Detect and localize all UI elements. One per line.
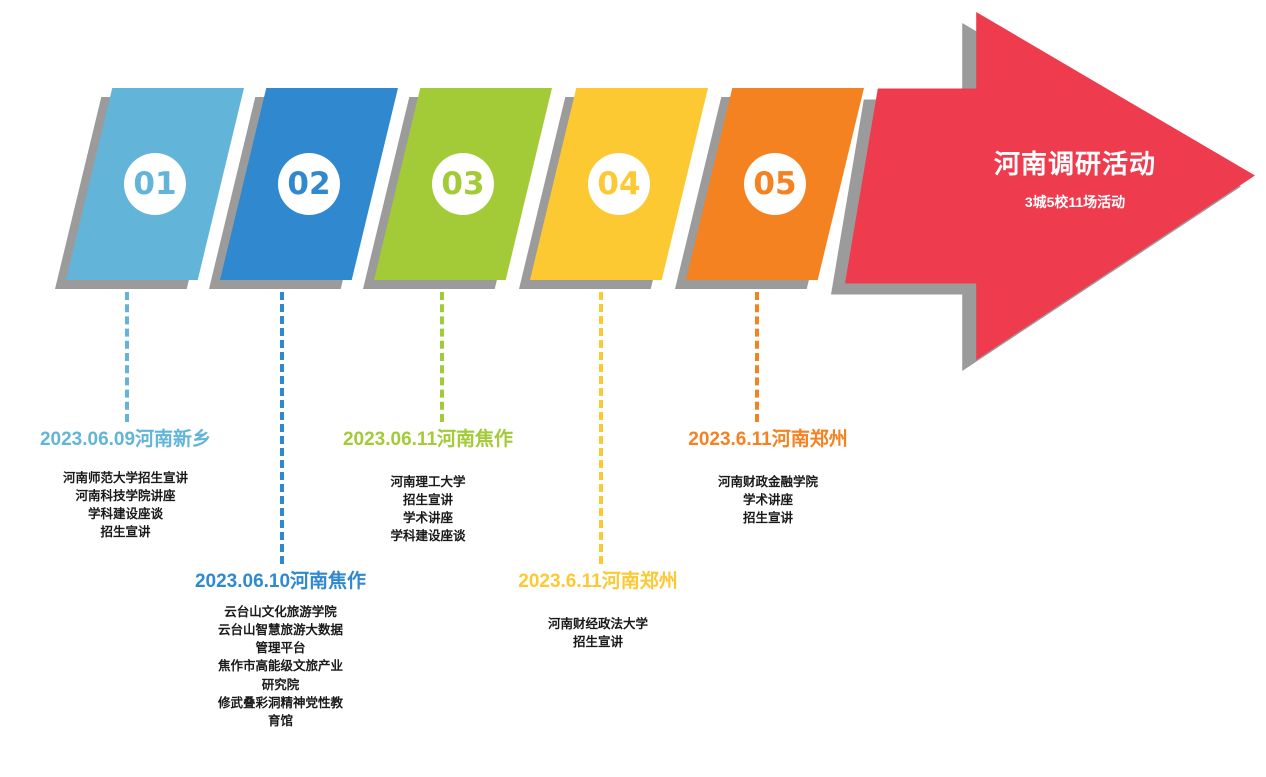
list-item: 学科建设座谈: [328, 527, 528, 545]
list-item: 河南理工大学: [328, 473, 528, 491]
list-item: 学科建设座谈: [18, 505, 233, 523]
step-label-02: 2023.06.10河南焦作 云台山文化旅游学院 云台山智慧旅游大数据 管理平台…: [177, 566, 384, 730]
timeline-card-01[interactable]: 01: [66, 88, 244, 280]
step-number-label: 04: [597, 166, 640, 202]
list-item: 学术讲座: [328, 509, 528, 527]
infographic-canvas: 01 02 03 04 05 河南调研活动 3城5校11场活动: [0, 0, 1266, 777]
timeline-card-05[interactable]: 05: [686, 88, 864, 280]
connector-line-05: [755, 292, 759, 422]
timeline-card-04[interactable]: 04: [530, 88, 708, 280]
step-number-badge-01: 01: [124, 153, 186, 215]
step-number-label: 02: [287, 166, 330, 202]
list-item: 云台山文化旅游学院: [177, 603, 384, 621]
step-date-04: 2023.6.11河南郑州: [498, 566, 698, 593]
step-date-05: 2023.6.11河南郑州: [668, 424, 868, 451]
step-number-label: 03: [441, 166, 484, 202]
step-label-05: 2023.6.11河南郑州 河南财政金融学院 学术讲座 招生宣讲: [668, 424, 868, 527]
step-number-badge-03: 03: [432, 153, 494, 215]
list-item: 修武叠彩洞精神党性教 育馆: [177, 694, 384, 730]
step-number-label: 01: [133, 166, 176, 202]
list-item: 云台山智慧旅游大数据 管理平台: [177, 621, 384, 657]
list-item: 河南科技学院讲座: [18, 487, 233, 505]
list-item: 焦作市高能级文旅产业 研究院: [177, 657, 384, 693]
list-item: 河南财经政法大学: [498, 615, 698, 633]
step-date-02: 2023.06.10河南焦作: [177, 566, 384, 593]
timeline-card-02[interactable]: 02: [220, 88, 398, 280]
step-items-03: 河南理工大学 招生宣讲 学术讲座 学科建设座谈: [328, 473, 528, 546]
step-label-01: 2023.06.09河南新乡 河南师范大学招生宣讲 河南科技学院讲座 学科建设座…: [18, 424, 233, 542]
list-item: 招生宣讲: [328, 491, 528, 509]
step-label-03: 2023.06.11河南焦作 河南理工大学 招生宣讲 学术讲座 学科建设座谈: [328, 424, 528, 546]
step-date-01: 2023.06.09河南新乡: [18, 424, 233, 451]
arrow-title: 河南调研活动: [945, 144, 1205, 181]
step-date-03: 2023.06.11河南焦作: [328, 424, 528, 451]
step-items-01: 河南师范大学招生宣讲 河南科技学院讲座 学科建设座谈 招生宣讲: [18, 469, 233, 542]
list-item: 招生宣讲: [18, 523, 233, 541]
step-items-04: 河南财经政法大学 招生宣讲: [498, 615, 698, 651]
connector-line-04: [599, 292, 603, 564]
connector-line-01: [125, 292, 129, 422]
step-label-04: 2023.6.11河南郑州 河南财经政法大学 招生宣讲: [498, 566, 698, 651]
step-number-badge-02: 02: [278, 153, 340, 215]
step-items-05: 河南财政金融学院 学术讲座 招生宣讲: [668, 473, 868, 527]
connector-line-02: [280, 292, 284, 564]
list-item: 学术讲座: [668, 491, 868, 509]
step-number-label: 05: [753, 166, 796, 202]
step-items-02: 云台山文化旅游学院 云台山智慧旅游大数据 管理平台 焦作市高能级文旅产业 研究院…: [177, 603, 384, 730]
list-item: 河南财政金融学院: [668, 473, 868, 491]
list-item: 河南师范大学招生宣讲: [18, 469, 233, 487]
list-item: 招生宣讲: [498, 633, 698, 651]
step-number-badge-05: 05: [744, 153, 806, 215]
connector-line-03: [440, 292, 444, 422]
arrow-subtitle: 3城5校11场活动: [945, 192, 1205, 212]
step-number-badge-04: 04: [588, 153, 650, 215]
summary-arrow[interactable]: 河南调研活动 3城5校11场活动: [845, 12, 1255, 360]
list-item: 招生宣讲: [668, 509, 868, 527]
arrow-face: [845, 12, 1255, 360]
timeline-card-03[interactable]: 03: [374, 88, 552, 280]
